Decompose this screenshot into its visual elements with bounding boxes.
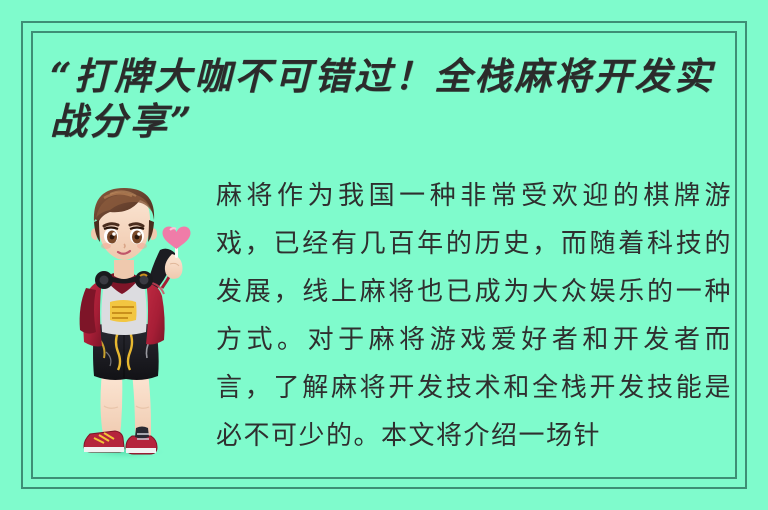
article-body-text: 麻将作为我国一种非常受欢迎的棋牌游戏，已经有几百年的历史，而随着科技的发展，线上… [216,172,732,462]
head [91,188,157,279]
page-title: “打牌大咖不可错过！全栈麻将开发实战分享” [50,54,730,144]
character-illustration [58,176,194,464]
poster-canvas: “打牌大咖不可错过！全栈麻将开发实战分享” 麻将作为我国一种非常受欢迎的棋牌游戏… [0,0,768,510]
sneakers [84,427,157,455]
character-svg [58,176,194,464]
heart-lollipop-icon [163,226,191,249]
